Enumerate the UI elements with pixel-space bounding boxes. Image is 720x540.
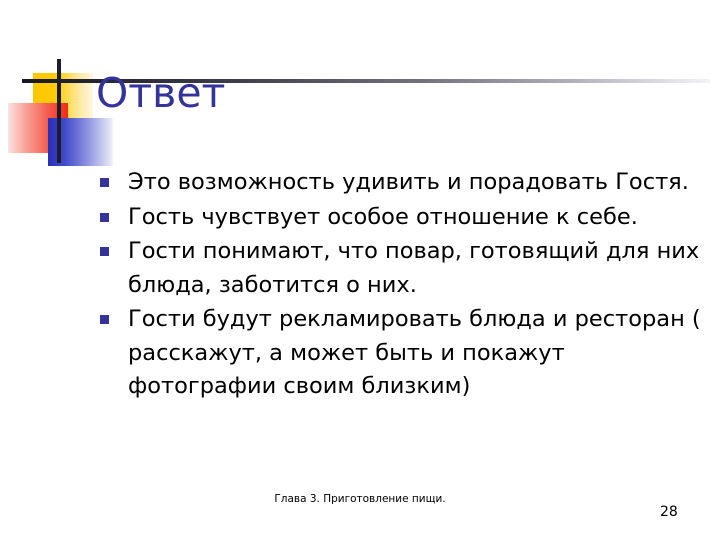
list-item: Гости будут рекламировать блюда и рестор… — [98, 303, 712, 404]
vertical-rule-icon — [57, 59, 61, 163]
list-item-label: Гости понимают, что повар, готовящий для… — [128, 235, 712, 302]
list-item-label: Гости будут рекламировать блюда и рестор… — [128, 303, 712, 404]
page-title: Ответ — [96, 70, 225, 116]
square-bullet-icon — [100, 247, 109, 256]
list-item: Гости понимают, что повар, готовящий для… — [98, 235, 712, 302]
list-item-label: Гость чувствует особое отношение к себе. — [128, 201, 712, 235]
list-item-label: Это возможность удивить и порадовать Гос… — [128, 166, 712, 200]
square-bullet-icon — [100, 178, 109, 187]
list-item: Гость чувствует особое отношение к себе. — [98, 201, 712, 235]
footer-chapter-label: Глава 3. Приготовление пищи. — [240, 492, 480, 506]
list-item: Это возможность удивить и порадовать Гос… — [98, 166, 712, 200]
bullet-list: Это возможность удивить и порадовать Гос… — [98, 166, 712, 405]
page-number: 28 — [660, 504, 700, 520]
square-bullet-icon — [100, 315, 109, 324]
square-bullet-icon — [100, 213, 109, 222]
slide-canvas: Ответ Это возможность удивить и порадова… — [0, 0, 720, 540]
